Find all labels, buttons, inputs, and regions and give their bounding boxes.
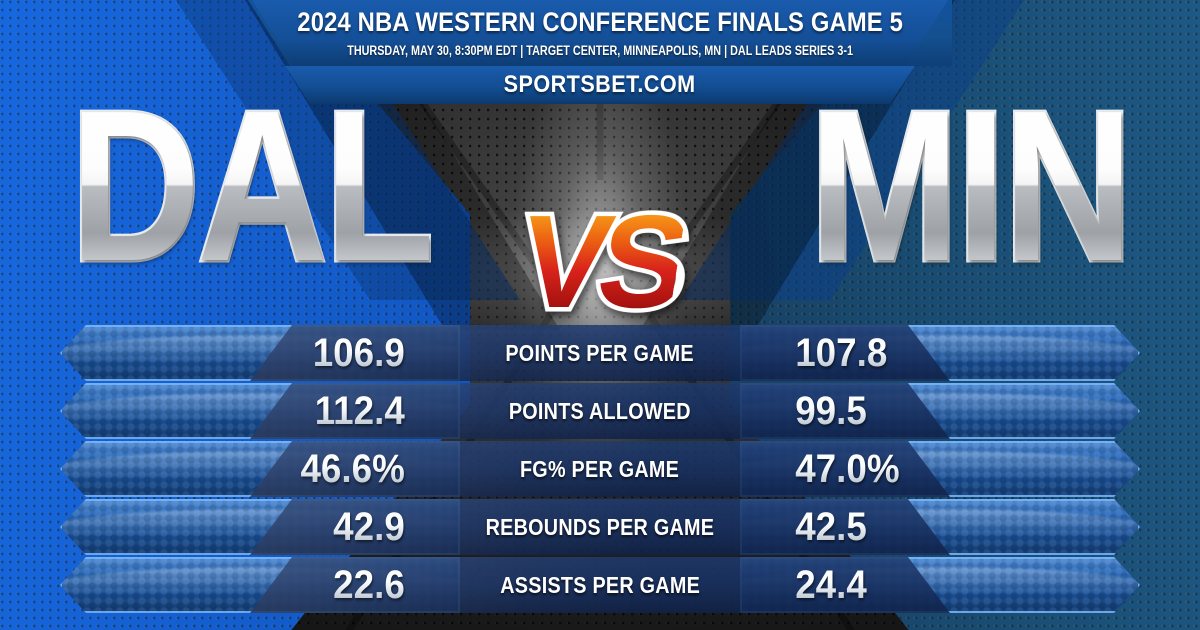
home-team-abbr: MIN (809, 78, 1130, 293)
header-text-group: 2024 NBA WESTERN CONFERENCE FINALS GAME … (0, 0, 1200, 66)
brand-text-wrap: SPORTSBET.COM (0, 66, 1200, 104)
away-team-abbr: DAL (70, 78, 431, 293)
table-row: 112.4 99.5 POINTS ALLOWED (0, 383, 1200, 439)
stats-table: 106.9 107.8 POINTS PER GAME 112.4 99.5 P… (0, 325, 1200, 615)
table-row: 46.6% 47.0% FG% PER GAME (0, 441, 1200, 497)
stat-label: ASSISTS PER GAME (500, 574, 700, 597)
table-row: 42.9 42.5 REBOUNDS PER GAME (0, 499, 1200, 555)
stat-label: FG% PER GAME (520, 458, 679, 481)
matchup-graphic: DAL DAL MIN MIN VS VS 2024 NBA WESTERN C… (0, 0, 1200, 630)
stat-label: POINTS PER GAME (506, 342, 695, 365)
versus-logo: VS (511, 196, 688, 328)
home-stat-value: 24.4 (740, 557, 1108, 613)
brand-name: SPORTSBET.COM (504, 71, 696, 99)
away-stat-value: 106.9 (92, 325, 460, 381)
home-stat-value: 42.5 (740, 499, 1108, 555)
event-subtitle: THURSDAY, MAY 30, 8:30PM EDT | TARGET CE… (347, 44, 853, 58)
away-stat-value: 112.4 (92, 383, 460, 439)
away-stat-value: 46.6% (92, 441, 460, 497)
stat-label: POINTS ALLOWED (509, 400, 691, 423)
home-stat-value: 47.0% (740, 441, 1108, 497)
stat-label: REBOUNDS PER GAME (486, 516, 715, 539)
home-stat-value: 99.5 (740, 383, 1108, 439)
event-title: 2024 NBA WESTERN CONFERENCE FINALS GAME … (297, 9, 903, 36)
table-row: 22.6 24.4 ASSISTS PER GAME (0, 557, 1200, 613)
away-stat-value: 42.9 (92, 499, 460, 555)
home-stat-value: 107.8 (740, 325, 1108, 381)
away-stat-value: 22.6 (92, 557, 460, 613)
